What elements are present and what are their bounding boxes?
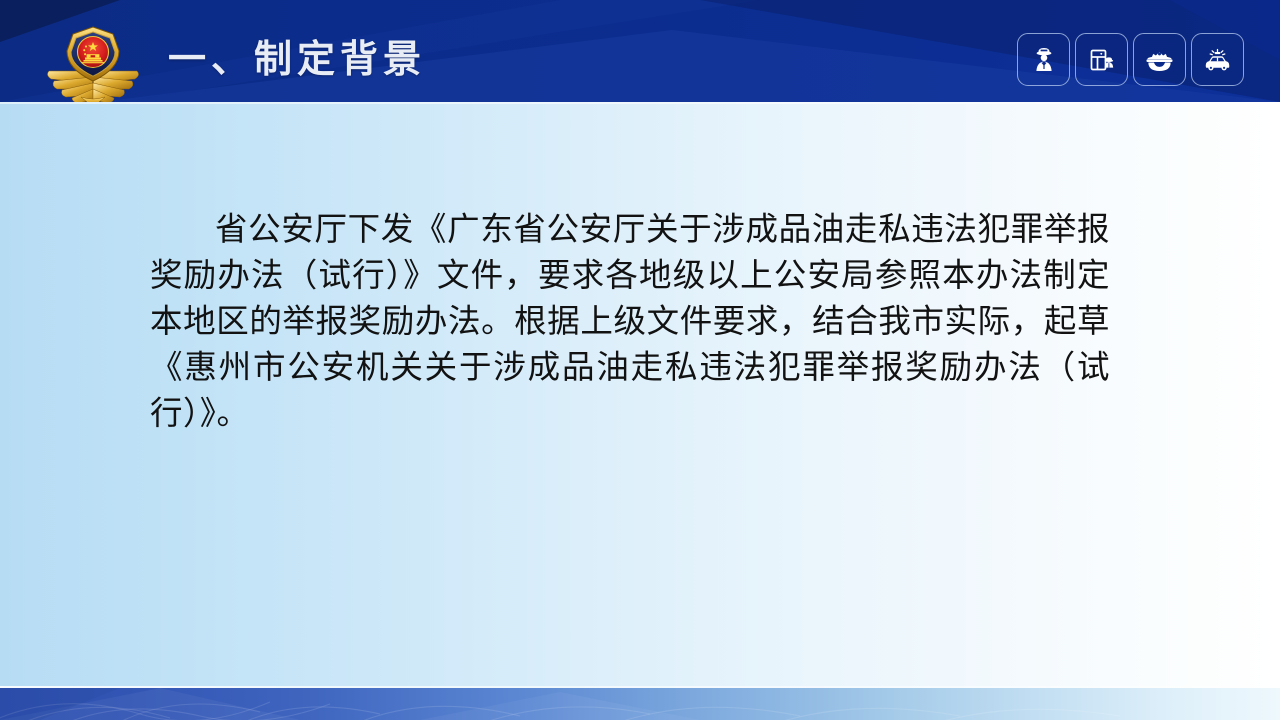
body-paragraph: 省公安厅下发《广东省公安厅关于涉成品油走私违法犯罪举报奖励办法（试行）》文件，要…: [150, 206, 1110, 436]
police-officer-icon[interactable]: [1017, 33, 1070, 86]
page-title: 一、制定背景: [168, 38, 426, 82]
content-area: 省公安厅下发《广东省公安厅关于涉成品油走私违法犯罪举报奖励办法（试行）》文件，要…: [150, 206, 1110, 436]
china-police-badge: [41, 21, 145, 102]
header-divider: [0, 102, 1280, 104]
police-badge-icon: [41, 21, 145, 102]
badge-reflection: [41, 103, 145, 155]
bottom-divider: [0, 686, 1280, 688]
police-booth-icon[interactable]: [1075, 33, 1128, 86]
police-cap-icon[interactable]: [1133, 33, 1186, 86]
band-swirl-pattern: [0, 688, 1280, 720]
slide-root: 一、制定背景: [0, 0, 1280, 720]
header-icon-group: [1017, 33, 1244, 86]
bottom-decoration-band: [0, 688, 1280, 720]
slide-header: 一、制定背景: [0, 0, 1280, 102]
police-car-icon[interactable]: [1191, 33, 1244, 86]
